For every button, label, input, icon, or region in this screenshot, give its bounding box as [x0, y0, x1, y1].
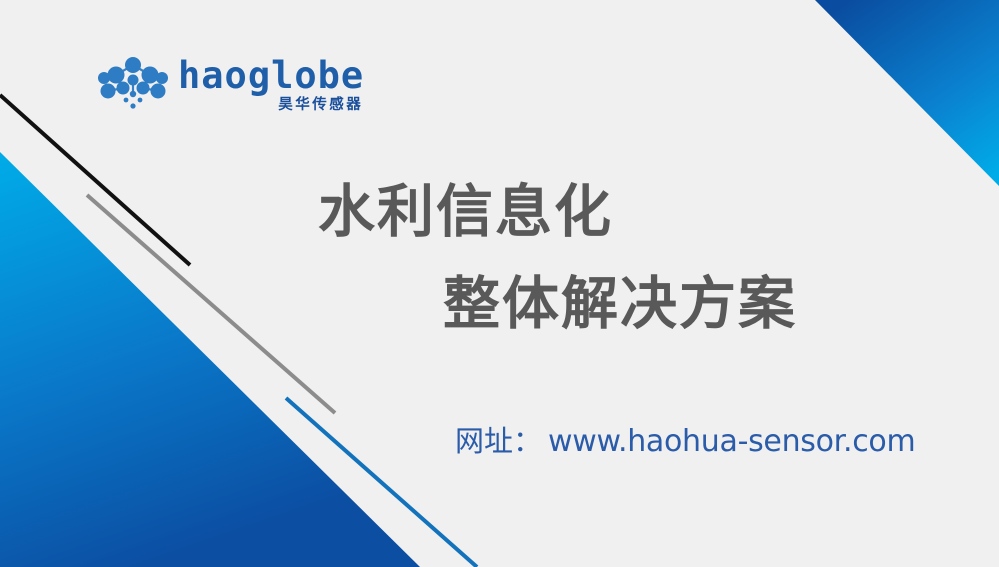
- presentation-slide: haoglobe 昊华传感器 水利信息化 整体解决方案 网址： www.haoh…: [0, 0, 999, 567]
- slide-title-line-1: 水利信息化: [318, 166, 613, 248]
- logo-subtitle: 昊华传感器: [278, 98, 363, 113]
- haoglobe-dot-cluster-icon: [96, 56, 170, 114]
- logo-wordmark: haoglobe: [178, 58, 364, 94]
- website-label: 网址：: [455, 418, 542, 460]
- diagonal-line-gray: [87, 195, 335, 413]
- website-url[interactable]: www.haohua-sensor.com: [548, 424, 915, 459]
- diagonal-line-blue: [286, 398, 477, 567]
- diagonal-line-black: [0, 95, 190, 265]
- top-right-blue-triangle: [815, 0, 999, 186]
- company-logo: haoglobe 昊华传感器: [96, 56, 364, 114]
- website-line: 网址： www.haohua-sensor.com: [455, 418, 915, 460]
- slide-title-line-2: 整体解决方案: [443, 258, 797, 340]
